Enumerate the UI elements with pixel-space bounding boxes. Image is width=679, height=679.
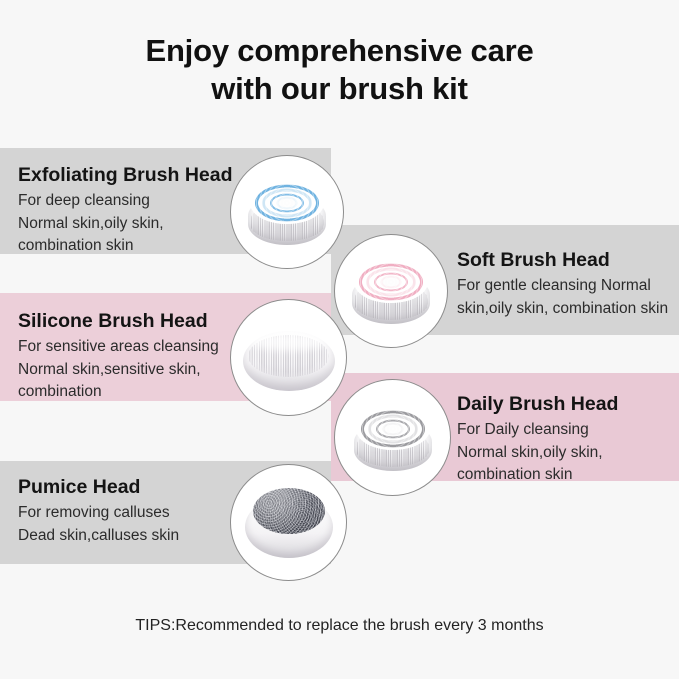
item-desc-line-2: Normal skin,sensitive skin, — [18, 359, 219, 382]
silicone-brush-head-image — [230, 299, 347, 416]
item-desc-line-3: combination skin — [457, 464, 618, 487]
item-desc-line-2: skin,oily skin, combination skin — [457, 298, 668, 321]
item-exfoliating-brush-head: Exfoliating Brush Head For deep cleansin… — [18, 163, 233, 258]
item-desc-line-3: combination skin — [18, 235, 233, 258]
silicone-dome-graphic — [243, 331, 335, 391]
item-description: For sensitive areas cleansing Normal ski… — [18, 336, 219, 404]
pumice-stone-graphic — [253, 488, 325, 534]
item-desc-line-2: Normal skin,oily skin, — [457, 442, 618, 465]
item-title: Silicone Brush Head — [18, 309, 219, 333]
item-desc-line-1: For deep cleansing — [18, 190, 233, 213]
brush-head-pink-graphic — [350, 258, 432, 328]
item-desc-line-2: Normal skin,oily skin, — [18, 213, 233, 236]
page-title-line-1: Enjoy comprehensive care — [0, 32, 679, 70]
item-description: For removing calluses Dead skin,calluses… — [18, 502, 179, 547]
item-desc-line-1: For Daily cleansing — [457, 419, 618, 442]
item-title: Exfoliating Brush Head — [18, 163, 233, 187]
item-desc-line-2: Dead skin,calluses skin — [18, 525, 179, 548]
item-pumice-head: Pumice Head For removing calluses Dead s… — [18, 475, 179, 547]
page-title-line-2: with our brush kit — [0, 70, 679, 108]
item-desc-line-3: combination — [18, 381, 219, 404]
item-desc-line-1: For sensitive areas cleansing — [18, 336, 219, 359]
item-title: Soft Brush Head — [457, 248, 668, 272]
item-description: For Daily cleansing Normal skin,oily ski… — [457, 419, 618, 487]
item-silicone-brush-head: Silicone Brush Head For sensitive areas … — [18, 309, 219, 404]
tips-note: TIPS:Recommended to replace the brush ev… — [0, 617, 679, 635]
item-title: Pumice Head — [18, 475, 179, 499]
brush-head-gray-graphic — [352, 405, 434, 475]
item-description: For deep cleansing Normal skin,oily skin… — [18, 190, 233, 258]
daily-brush-head-image — [334, 379, 451, 496]
brush-head-blue-graphic — [246, 179, 328, 249]
item-desc-line-1: For removing calluses — [18, 502, 179, 525]
item-desc-line-1: For gentle cleansing Normal — [457, 275, 668, 298]
soft-brush-head-image — [334, 234, 448, 348]
item-title: Daily Brush Head — [457, 392, 618, 416]
exfoliating-brush-head-image — [230, 155, 344, 269]
page-title: Enjoy comprehensive care with our brush … — [0, 32, 679, 108]
pumice-head-image — [230, 464, 347, 581]
item-description: For gentle cleansing Normal skin,oily sk… — [457, 275, 668, 320]
item-soft-brush-head: Soft Brush Head For gentle cleansing Nor… — [457, 248, 668, 320]
product-infographic: Enjoy comprehensive care with our brush … — [0, 0, 679, 679]
item-daily-brush-head: Daily Brush Head For Daily cleansing Nor… — [457, 392, 618, 487]
